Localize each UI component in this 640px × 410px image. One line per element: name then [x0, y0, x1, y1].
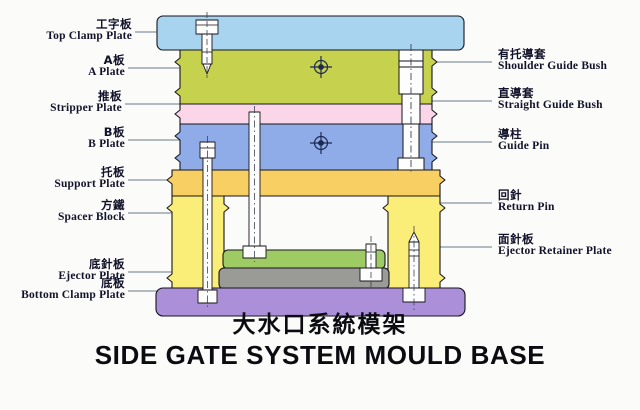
label-ejector-retainer-plate-en: Ejector Retainer Plate [498, 245, 612, 257]
label-straight-guide-bush: 直導套 Straight Guide Bush [498, 87, 603, 111]
label-support-plate: 托板 Support Plate [54, 166, 125, 190]
title-chinese: 大水口系統模架 [0, 312, 640, 338]
label-ejector-retainer-plate: 面針板 Ejector Retainer Plate [498, 233, 612, 257]
label-spacer-block-cn: 方鐵 [58, 199, 125, 211]
label-spacer-block: 方鐵 Spacer Block [58, 199, 125, 223]
plate-a-plate [175, 50, 437, 104]
label-straight-guide-bush-en: Straight Guide Bush [498, 99, 603, 111]
diagram-canvas: 工字板 Top Clamp Plate A板 A Plate 推板 Stripp… [0, 0, 640, 410]
label-return-pin-cn: 回針 [498, 189, 555, 201]
label-b-plate-en: B Plate [88, 138, 125, 150]
label-spacer-block-en: Spacer Block [58, 211, 125, 223]
mould-assembly [156, 12, 465, 316]
label-guide-pin-cn: 導柱 [498, 128, 549, 140]
label-top-clamp-plate-cn: 工字板 [46, 18, 132, 30]
label-bottom-clamp-plate: 底板 Bottom Clamp Plate [21, 277, 125, 301]
label-stripper-plate: 推板 Stripper Plate [50, 90, 122, 114]
label-b-plate: B板 B Plate [88, 126, 125, 150]
label-b-plate-cn: B板 [88, 126, 125, 138]
label-stripper-plate-en: Stripper Plate [50, 102, 122, 114]
label-a-plate-en: A Plate [88, 66, 125, 78]
label-support-plate-cn: 托板 [54, 166, 125, 178]
label-top-clamp-plate-en: Top Clamp Plate [46, 30, 132, 42]
title-block: 大水口系統模架 SIDE GATE SYSTEM MOULD BASE [0, 312, 640, 372]
label-return-pin: 回針 Return Pin [498, 189, 555, 213]
label-guide-pin-en: Guide Pin [498, 140, 549, 152]
label-bottom-clamp-plate-cn: 底板 [21, 277, 125, 289]
shoulder-guide-bush [399, 50, 423, 94]
label-ejector-retainer-plate-cn: 面針板 [498, 233, 612, 245]
plate-stripper-plate [175, 104, 437, 124]
label-shoulder-guide-bush: 有托導套 Shoulder Guide Bush [498, 48, 607, 72]
label-support-plate-en: Support Plate [54, 178, 125, 190]
label-ejector-plate-cn: 底針板 [58, 258, 125, 270]
label-return-pin-en: Return Pin [498, 201, 555, 213]
label-a-plate: A板 A Plate [88, 54, 125, 78]
label-shoulder-guide-bush-en: Shoulder Guide Bush [498, 60, 607, 72]
label-top-clamp-plate: 工字板 Top Clamp Plate [46, 18, 132, 42]
label-bottom-clamp-plate-en: Bottom Clamp Plate [21, 289, 125, 301]
label-stripper-plate-cn: 推板 [50, 90, 122, 102]
label-a-plate-cn: A板 [88, 54, 125, 66]
label-guide-pin: 導柱 Guide Pin [498, 128, 549, 152]
label-shoulder-guide-bush-cn: 有托導套 [498, 48, 607, 60]
label-straight-guide-bush-cn: 直導套 [498, 87, 603, 99]
title-english: SIDE GATE SYSTEM MOULD BASE [0, 340, 640, 371]
